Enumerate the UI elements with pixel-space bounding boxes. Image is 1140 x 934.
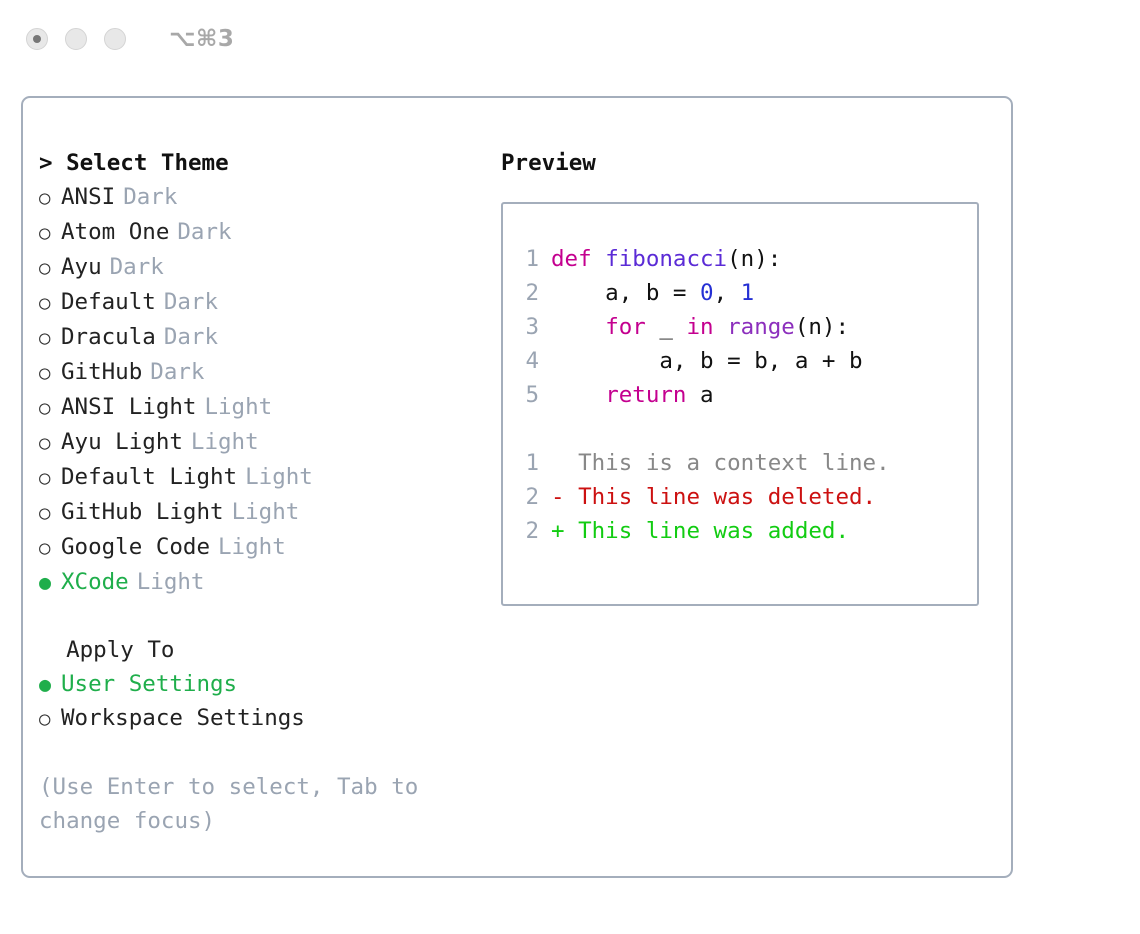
apply-option-1[interactable]: ○Workspace Settings (39, 701, 493, 736)
theme-option-variant-tag: Dark (123, 180, 177, 214)
theme-option-0[interactable]: ○ANSIDark (39, 180, 493, 215)
token-kw: in (686, 314, 713, 340)
token-txt: , (714, 280, 741, 306)
code-line-number: 2 (515, 276, 539, 310)
code-line-content: a, b = 0, 1 (551, 276, 754, 310)
token-txt (551, 314, 605, 340)
token-kw: for (605, 314, 646, 340)
theme-option-9[interactable]: ○GitHub LightLight (39, 495, 493, 530)
preview-column: Preview 1def fibonacci(n):2 a, b = 0, 13… (493, 98, 1011, 876)
select-theme-heading: > Select Theme (39, 146, 493, 180)
apply-to-heading: Apply To (39, 633, 493, 667)
theme-option-label: GitHub (61, 355, 142, 389)
token-ctx: This is a context line. (551, 450, 890, 476)
diff-line-content: This is a context line. (551, 446, 890, 480)
apply-to-list: ●User Settings○Workspace Settings (39, 667, 493, 736)
theme-option-10[interactable]: ○Google CodeLight (39, 530, 493, 565)
code-line-number: 4 (515, 344, 539, 378)
theme-option-11[interactable]: ●XCodeLight (39, 565, 493, 599)
theme-option-label: Default (61, 285, 156, 319)
apply-option-label: Workspace Settings (61, 701, 305, 735)
spacer-apply-hint (39, 736, 493, 770)
radio-unselected-icon: ○ (39, 391, 61, 425)
theme-option-label: ANSI (61, 180, 115, 214)
code-line-content: for _ in range(n): (551, 310, 849, 344)
theme-option-variant-tag: Dark (164, 320, 218, 354)
diff-sample: 1 This is a context line.2- This line wa… (515, 446, 977, 548)
app-window: ⌥⌘3 > Select Theme ○ANSIDark○Atom OneDar… (0, 0, 1140, 934)
diff-line-content: - This line was deleted. (551, 480, 876, 514)
theme-option-variant-tag: Dark (150, 355, 204, 389)
traffic-light-close-inner (33, 35, 41, 43)
code-line-content: return a (551, 378, 714, 412)
code-line-number: 1 (515, 242, 539, 276)
radio-unselected-icon: ○ (39, 702, 61, 736)
radio-selected-icon: ● (39, 565, 61, 599)
window-controls (26, 28, 126, 50)
token-num: 1 (741, 280, 755, 306)
theme-option-label: Default Light (61, 460, 237, 494)
theme-option-label: Ayu (61, 250, 102, 284)
theme-option-1[interactable]: ○Atom OneDark (39, 215, 493, 250)
apply-option-0[interactable]: ●User Settings (39, 667, 493, 701)
token-num: 0 (700, 280, 714, 306)
token-call: range (727, 314, 795, 340)
code-line: 4 a, b = b, a + b (515, 344, 977, 378)
theme-option-variant-tag: Light (137, 565, 205, 599)
code-line: 5 return a (515, 378, 977, 412)
theme-option-label: Ayu Light (61, 425, 183, 459)
theme-option-label: Google Code (61, 530, 210, 564)
token-kw: return (605, 382, 686, 408)
theme-list-column: > Select Theme ○ANSIDark○Atom OneDark○Ay… (23, 98, 493, 876)
keyboard-hint-text: (Use Enter to select, Tab to change focu… (39, 770, 449, 838)
theme-option-6[interactable]: ○ANSI LightLight (39, 390, 493, 425)
theme-option-variant-tag: Dark (110, 250, 164, 284)
diff-line-content: + This line was added. (551, 514, 849, 548)
theme-option-4[interactable]: ○DraculaDark (39, 320, 493, 355)
traffic-light-minimize[interactable] (65, 28, 87, 50)
token-txt: (n): (795, 314, 849, 340)
token-txt: a (686, 382, 713, 408)
radio-unselected-icon: ○ (39, 321, 61, 355)
code-line-content: def fibonacci(n): (551, 242, 781, 276)
theme-option-label: GitHub Light (61, 495, 224, 529)
theme-option-5[interactable]: ○GitHubDark (39, 355, 493, 390)
traffic-light-maximize[interactable] (104, 28, 126, 50)
apply-option-label: User Settings (61, 667, 237, 701)
theme-option-2[interactable]: ○AyuDark (39, 250, 493, 285)
code-line: 3 for _ in range(n): (515, 310, 977, 344)
theme-picker-panel: > Select Theme ○ANSIDark○Atom OneDark○Ay… (21, 96, 1013, 878)
titlebar: ⌥⌘3 (0, 0, 1140, 78)
diff-line: 2+ This line was added. (515, 514, 977, 548)
code-sample: 1def fibonacci(n):2 a, b = 0, 13 for _ i… (515, 242, 977, 412)
theme-option-variant-tag: Dark (177, 215, 231, 249)
theme-option-variant-tag: Light (191, 425, 259, 459)
theme-option-variant-tag: Light (204, 390, 272, 424)
radio-unselected-icon: ○ (39, 356, 61, 390)
radio-unselected-icon: ○ (39, 461, 61, 495)
radio-unselected-icon: ○ (39, 286, 61, 320)
diff-line-number: 2 (515, 480, 539, 514)
code-line-content: a, b = b, a + b (551, 344, 863, 378)
radio-unselected-icon: ○ (39, 216, 61, 250)
token-txt (714, 314, 728, 340)
token-txt: a, b = (551, 280, 700, 306)
token-add: + This line was added. (551, 518, 849, 544)
radio-unselected-icon: ○ (39, 181, 61, 215)
radio-unselected-icon: ○ (39, 251, 61, 285)
theme-option-variant-tag: Dark (164, 285, 218, 319)
diff-line-number: 1 (515, 446, 539, 480)
token-del: - This line was deleted. (551, 484, 876, 510)
diff-line: 1 This is a context line. (515, 446, 977, 480)
token-txt: _ (646, 314, 687, 340)
theme-option-label: Atom One (61, 215, 169, 249)
code-diff-gap (515, 412, 977, 446)
token-kw: def (551, 246, 605, 272)
diff-line: 2- This line was deleted. (515, 480, 977, 514)
code-line-number: 5 (515, 378, 539, 412)
traffic-light-close[interactable] (26, 28, 48, 50)
spacer-theme-apply (39, 599, 493, 633)
token-fn: fibonacci (605, 246, 727, 272)
code-line: 1def fibonacci(n): (515, 242, 977, 276)
theme-option-label: XCode (61, 565, 129, 599)
theme-option-variant-tag: Light (232, 495, 300, 529)
diff-line-number: 2 (515, 514, 539, 548)
token-txt: (n): (727, 246, 781, 272)
theme-option-variant-tag: Light (245, 460, 313, 494)
theme-option-7[interactable]: ○Ayu LightLight (39, 425, 493, 460)
preview-box: 1def fibonacci(n):2 a, b = 0, 13 for _ i… (501, 202, 979, 606)
theme-option-label: ANSI Light (61, 390, 196, 424)
token-txt: a, b = b, a + b (551, 348, 863, 374)
radio-unselected-icon: ○ (39, 531, 61, 565)
theme-option-8[interactable]: ○Default LightLight (39, 460, 493, 495)
token-txt (551, 382, 605, 408)
radio-unselected-icon: ○ (39, 426, 61, 460)
theme-option-3[interactable]: ○DefaultDark (39, 285, 493, 320)
keyboard-shortcut-label: ⌥⌘3 (169, 26, 234, 52)
code-line-number: 3 (515, 310, 539, 344)
preview-heading: Preview (501, 146, 1011, 180)
theme-option-variant-tag: Light (218, 530, 286, 564)
radio-unselected-icon: ○ (39, 496, 61, 530)
theme-list: ○ANSIDark○Atom OneDark○AyuDark○DefaultDa… (39, 180, 493, 599)
code-line: 2 a, b = 0, 1 (515, 276, 977, 310)
radio-selected-icon: ● (39, 667, 61, 701)
theme-option-label: Dracula (61, 320, 156, 354)
